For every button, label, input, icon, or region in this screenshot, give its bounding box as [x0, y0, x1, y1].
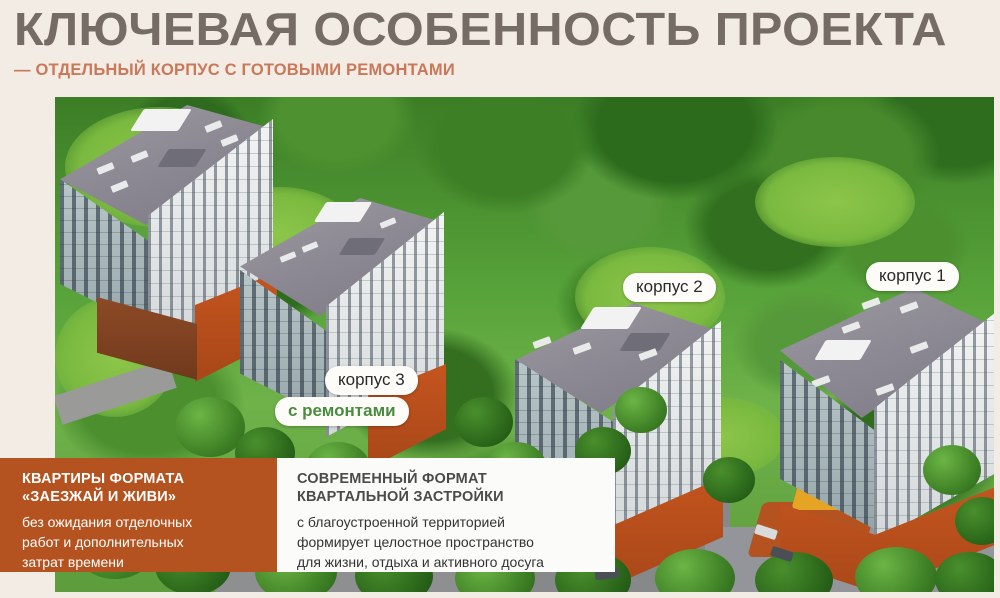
tree: [923, 445, 981, 495]
page-title: КЛЮЧЕВАЯ ОСОБЕННОСТЬ ПРОЕКТА: [14, 4, 947, 54]
info-box-white-title-line-1: СОВРЕМЕННЫЙ ФОРМАТ: [297, 470, 504, 488]
tree: [703, 457, 755, 503]
info-box-orange: КВАРТИРЫ ФОРМАТА «ЗАЕЗЖАЙ И ЖИВИ» без ож…: [0, 458, 277, 572]
heading-block: КЛЮЧЕВАЯ ОСОБЕННОСТЬ ПРОЕКТА — ОТДЕЛЬНЫЙ…: [0, 0, 1000, 97]
info-box-white-title-line-2: КВАРТАЛЬНОЙ ЗАСТРОЙКИ: [297, 488, 504, 506]
callout-korpus-1[interactable]: корпус 1: [866, 262, 959, 291]
slide-root: КЛЮЧЕВАЯ ОСОБЕННОСТЬ ПРОЕКТА — ОТДЕЛЬНЫЙ…: [0, 0, 1000, 598]
info-box-white-body-line-2: формирует целостное пространство: [297, 532, 544, 552]
callout-korpus-3[interactable]: корпус 3: [325, 366, 418, 395]
info-box-orange-title-line-1: КВАРТИРЫ ФОРМАТА: [22, 470, 184, 488]
info-box-orange-title-line-2: «ЗАЕЗЖАЙ И ЖИВИ»: [22, 488, 184, 506]
info-box-orange-body-line-3: затрат времени: [22, 552, 192, 572]
page-subtitle: — ОТДЕЛЬНЫЙ КОРПУС С ГОТОВЫМИ РЕМОНТАМИ: [14, 60, 455, 80]
callout-s-remontami[interactable]: с ремонтами: [275, 397, 409, 426]
info-box-orange-body: без ожидания отделочных работ и дополнит…: [22, 512, 192, 572]
info-box-orange-title: КВАРТИРЫ ФОРМАТА «ЗАЕЗЖАЙ И ЖИВИ»: [22, 470, 184, 506]
info-box-orange-body-line-1: без ожидания отделочных: [22, 512, 192, 532]
callout-korpus-2[interactable]: корпус 2: [623, 273, 716, 302]
info-box-white-body-line-1: с благоустроенной территорией: [297, 512, 544, 532]
building-korpus-1: [780, 282, 994, 592]
tree: [615, 387, 667, 433]
info-box-white: СОВРЕМЕННЫЙ ФОРМАТ КВАРТАЛЬНОЙ ЗАСТРОЙКИ…: [277, 458, 615, 572]
info-box-white-body: с благоустроенной территорией формирует …: [297, 512, 544, 572]
info-box-white-title: СОВРЕМЕННЫЙ ФОРМАТ КВАРТАЛЬНОЙ ЗАСТРОЙКИ: [297, 470, 504, 506]
info-box-orange-body-line-2: работ и дополнительных: [22, 532, 192, 552]
grass-clearing: [755, 157, 915, 247]
info-box-white-body-line-3: для жизни, отдыха и активного досуга: [297, 552, 544, 572]
tree: [455, 397, 513, 447]
